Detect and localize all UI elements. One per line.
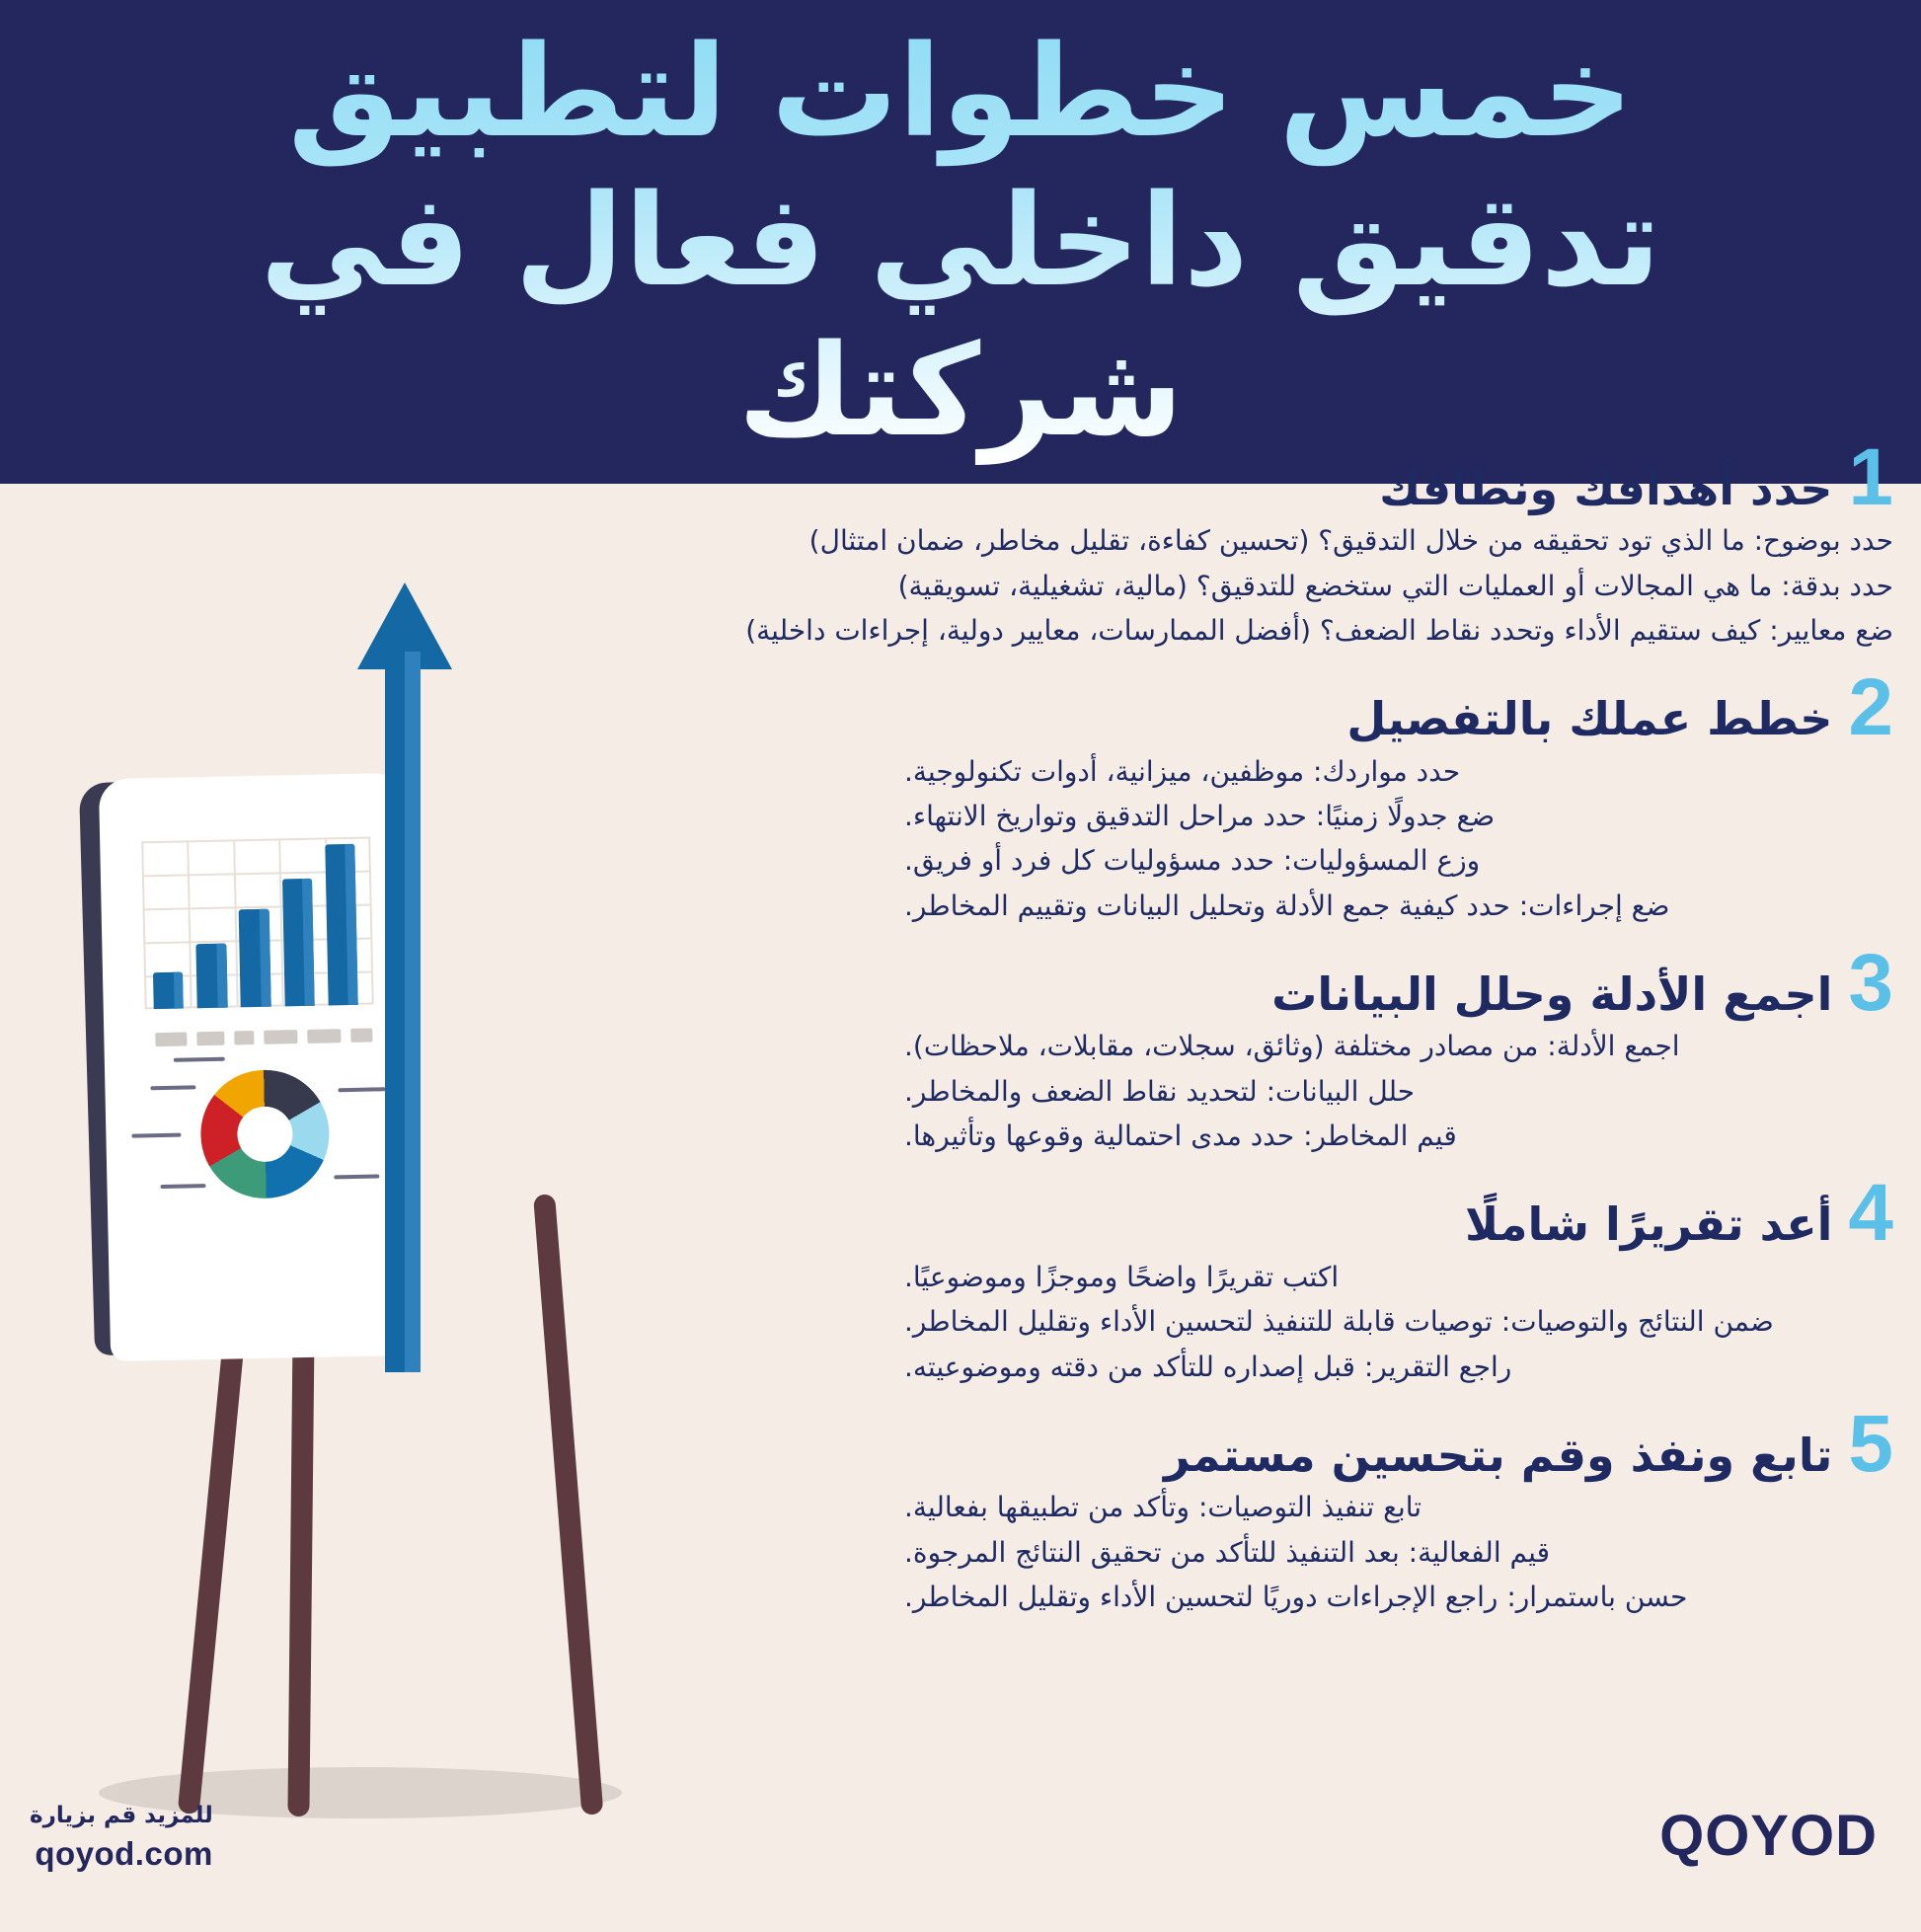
- bar-2: [196, 944, 228, 1008]
- step-heading-1: 1 حدد أهدافك ونطاقك: [904, 444, 1893, 512]
- step-line: ضع جدولًا زمنيًا: حدد مراحل التدقيق وتوا…: [904, 794, 1893, 838]
- legend-chips: [153, 1029, 372, 1047]
- step-block-5: 5 تابع ونفذ وقم بتحسين مستمر تابع تنفيذ …: [904, 1411, 1893, 1619]
- step-number-5: 5: [1848, 1411, 1893, 1477]
- donut-callout-4: [160, 1184, 205, 1189]
- step-lines-2: حدد مواردك: موظفين، ميزانية، أدوات تكنول…: [904, 749, 1893, 928]
- step-line: وزع المسؤوليات: حدد مسؤوليات كل فرد أو ف…: [904, 838, 1893, 883]
- step-heading-4: 4 أعد تقريرًا شاملًا: [904, 1180, 1893, 1248]
- arrow-shaft-highlight: [405, 652, 421, 1372]
- step-number-4: 4: [1848, 1180, 1893, 1246]
- bar-5: [325, 844, 358, 1006]
- donut-callout-1: [174, 1057, 225, 1062]
- step-line: ضع معايير: كيف ستقيم الأداء وتحدد نقاط ا…: [904, 608, 1893, 653]
- step-line: حسن باستمرار: راجع الإجراءات دوريًا لتحس…: [904, 1575, 1893, 1619]
- step-line: قيم الفعالية: بعد التنفيذ للتأكد من تحقي…: [904, 1530, 1893, 1575]
- step-line: اكتب تقريرًا واضحًا وموجزًا وموضوعيًا.: [904, 1255, 1893, 1299]
- step-title-5: تابع ونفذ وقم بتحسين مستمر: [1164, 1431, 1832, 1479]
- page-body: 1 حدد أهدافك ونطاقك حدد بوضوح: ما الذي ت…: [0, 484, 1921, 1932]
- step-line: راجع التقرير: قبل إصداره للتأكد من دقته …: [904, 1345, 1893, 1389]
- step-line: حدد بوضوح: ما الذي تود تحقيقه من خلال ال…: [904, 518, 1893, 563]
- step-number-3: 3: [1848, 950, 1893, 1016]
- header-band: خمس خطوات لتطبيق تدقيق داخلي فعال في شرك…: [0, 0, 1921, 484]
- step-number-1: 1: [1848, 444, 1893, 510]
- step-title-3: اجمع الأدلة وحلل البيانات: [1271, 970, 1832, 1018]
- bar-chart: [141, 837, 374, 1010]
- step-lines-1: حدد بوضوح: ما الذي تود تحقيقه من خلال ال…: [904, 518, 1893, 653]
- growth-arrow: [357, 582, 452, 1372]
- step-heading-3: 3 اجمع الأدلة وحلل البيانات: [904, 950, 1893, 1018]
- step-block-3: 3 اجمع الأدلة وحلل البيانات اجمع الأدلة:…: [904, 950, 1893, 1158]
- step-line: حلل البيانات: لتحديد نقاط الضعف والمخاطر…: [904, 1069, 1893, 1114]
- step-title-2: خطط عملك بالتفصيل: [1346, 695, 1832, 742]
- footer-visit: للمزيد قم بزيارة qoyod.com: [30, 1802, 213, 1873]
- step-line: اجمع الأدلة: من مصادر مختلفة (وثائق، سجل…: [904, 1024, 1893, 1068]
- step-title-1: حدد أهدافك ونطاقك: [1379, 465, 1832, 512]
- step-line: حدد مواردك: موظفين، ميزانية، أدوات تكنول…: [904, 749, 1893, 794]
- step-line: ضمن النتائج والتوصيات: توصيات قابلة للتن…: [904, 1299, 1893, 1344]
- bar-1: [153, 971, 184, 1009]
- bar-3: [239, 909, 270, 1007]
- footer-url[interactable]: qoyod.com: [30, 1835, 213, 1873]
- footer-caption: للمزيد قم بزيارة: [30, 1802, 213, 1831]
- step-title-4: أعد تقريرًا شاملًا: [1465, 1200, 1832, 1248]
- step-block-2: 2 خطط عملك بالتفصيل حدد مواردك: موظفين، …: [904, 674, 1893, 928]
- steps-column: 1 حدد أهدافك ونطاقك حدد بوضوح: ما الذي ت…: [875, 444, 1921, 1641]
- bar-4: [282, 879, 315, 1007]
- donut-callout-2: [150, 1085, 195, 1090]
- donut-callout-3: [131, 1133, 181, 1138]
- page-title: خمس خطوات لتطبيق تدقيق داخلي فعال في شرك…: [121, 18, 1800, 465]
- step-number-2: 2: [1848, 674, 1893, 740]
- step-heading-5: 5 تابع ونفذ وقم بتحسين مستمر: [904, 1411, 1893, 1479]
- step-line: قيم المخاطر: حدد مدى احتمالية وقوعها وتأ…: [904, 1114, 1893, 1158]
- step-line: حدد بدقة: ما هي المجالات أو العمليات الت…: [904, 564, 1893, 608]
- step-block-1: 1 حدد أهدافك ونطاقك حدد بوضوح: ما الذي ت…: [904, 444, 1893, 653]
- step-heading-2: 2 خطط عملك بالتفصيل: [904, 674, 1893, 742]
- step-line: ضع إجراءات: حدد كيفية جمع الأدلة وتحليل …: [904, 884, 1893, 928]
- step-block-4: 4 أعد تقريرًا شاملًا اكتب تقريرًا واضحًا…: [904, 1180, 1893, 1388]
- qoyod-logo: QOYOD: [1659, 1803, 1878, 1869]
- easel-illustration: [69, 582, 622, 1866]
- donut-chart: [199, 1068, 331, 1199]
- step-line: تابع تنفيذ التوصيات: وتأكد من تطبيقها بف…: [904, 1485, 1893, 1529]
- easel-leg-right: [533, 1194, 603, 1816]
- step-lines-4: اكتب تقريرًا واضحًا وموجزًا وموضوعيًا. ض…: [904, 1255, 1893, 1389]
- step-lines-5: تابع تنفيذ التوصيات: وتأكد من تطبيقها بف…: [904, 1485, 1893, 1619]
- step-lines-3: اجمع الأدلة: من مصادر مختلفة (وثائق، سجل…: [904, 1024, 1893, 1158]
